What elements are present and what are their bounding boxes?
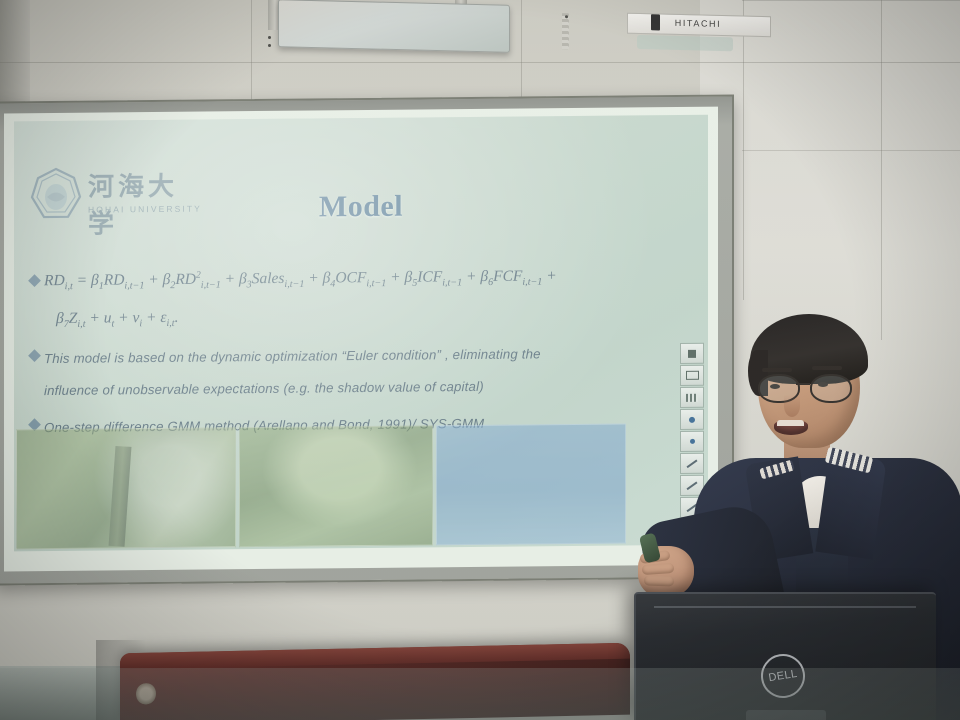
diamond-bullet-icon	[28, 274, 41, 287]
wall-seam	[742, 0, 960, 2]
projector-vent	[562, 13, 569, 49]
slide-title: Model	[14, 187, 708, 228]
wall-seam	[0, 62, 960, 63]
wall-seam	[250, 0, 252, 100]
pen-color-tool-icon	[689, 416, 695, 422]
projector-indicator	[268, 44, 271, 47]
select-tool-icon	[688, 349, 696, 357]
presenter-teeth	[777, 420, 804, 426]
lecture-room-photo: HITACHI 河海大学 HOHAI UNIVERSITY	[0, 0, 960, 720]
bullet-1-line-1: This model is based on the dynamic optim…	[44, 341, 541, 372]
equation-row: RDi,t = β1RDi,t−1 + β2RD2i,t−1 + β3Sales…	[30, 265, 690, 296]
presenter-eyebrow	[812, 366, 842, 370]
foliage-detail	[109, 446, 132, 547]
wall-seam	[520, 0, 522, 98]
pen-tool-icon	[687, 481, 698, 490]
eyeglass-bridge	[796, 383, 810, 385]
keyboard-tool-icon	[686, 393, 698, 401]
floor-strip	[0, 668, 960, 720]
equation-line-1: RDi,t = β1RDi,t−1 + β2RD2i,t−1 + β3Sales…	[44, 266, 557, 294]
diamond-bullet-icon	[28, 349, 41, 362]
projector-brand-label: HITACHI	[627, 14, 769, 34]
pointer-tool-icon	[690, 439, 695, 444]
projector-indicator	[565, 15, 568, 18]
eraser-tool-icon	[686, 371, 699, 380]
projected-slide: 河海大学 HOHAI UNIVERSITY Model RDi,t = β1RD…	[14, 115, 708, 552]
wall-seam	[880, 0, 882, 340]
laptop-lid-seam	[654, 606, 916, 608]
eyeglass-lens-right	[810, 374, 852, 403]
slide-photo-sky	[436, 423, 626, 545]
wall-left-shadow	[0, 0, 30, 110]
bullet-item: This model is based on the dynamic optim…	[30, 340, 690, 372]
slide-body: RDi,t = β1RDi,t−1 + β2RD2i,t−1 + β3Sales…	[30, 265, 690, 447]
presenter-finger	[644, 575, 674, 586]
presenter-eyebrow	[762, 368, 792, 372]
slide-photo-waterfall	[16, 427, 236, 549]
presenter-nose	[784, 395, 800, 417]
wall-seam	[742, 150, 960, 152]
pen-tool-icon	[687, 459, 698, 468]
eyeglasses	[756, 374, 860, 400]
whiteboard-frame: 河海大学 HOHAI UNIVERSITY Model RDi,t = β1RD…	[0, 94, 734, 585]
slide-photo-strip	[16, 423, 646, 547]
projector: HITACHI	[278, 0, 510, 53]
projector-lens	[637, 35, 733, 51]
bullet-1-line-2: influence of unobservable expectations (…	[44, 372, 690, 404]
projector-indicator	[268, 36, 271, 39]
whiteboard-surface[interactable]: 河海大学 HOHAI UNIVERSITY Model RDi,t = β1RD…	[4, 107, 718, 572]
slide-photo-tree	[239, 425, 433, 547]
equation-line-2: β7Zi,t + ut + vi + εi,t.	[56, 304, 690, 330]
